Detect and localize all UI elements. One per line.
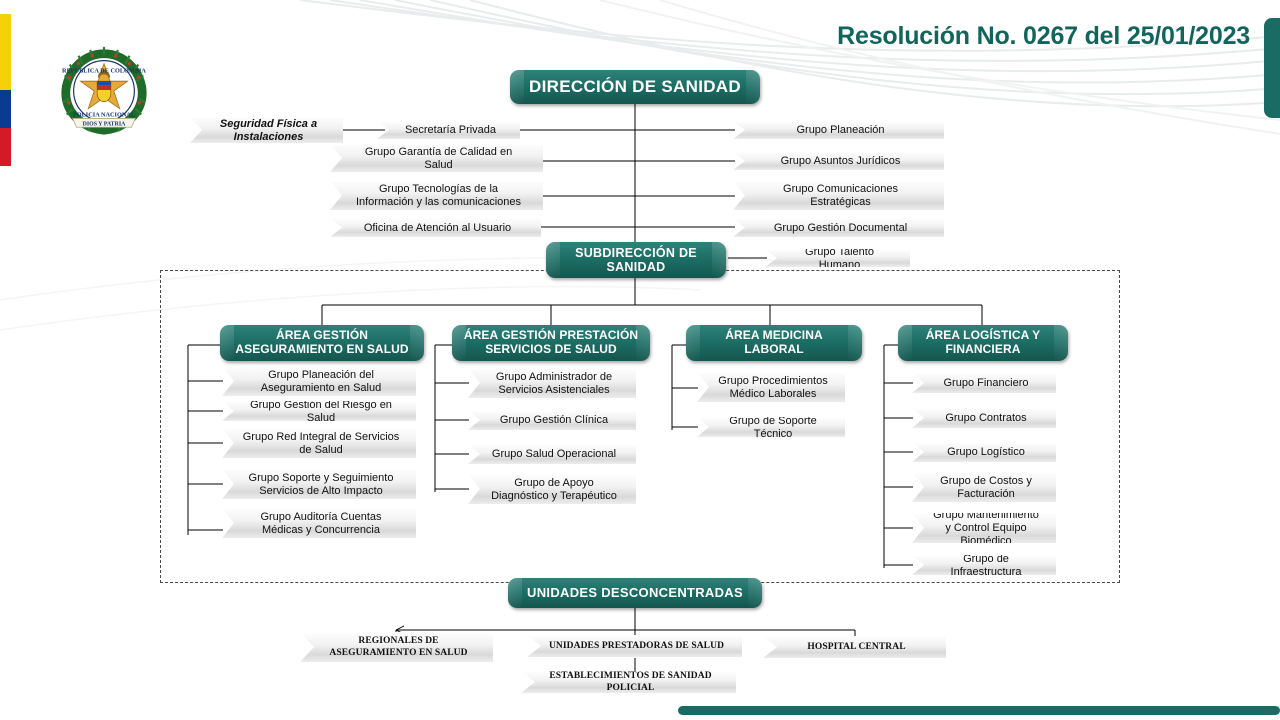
emblem-bottom-text: POLICIA NACIONAL: [73, 111, 135, 118]
node-label: Grupo de Apoyo Diagnóstico y Terapéutico: [488, 477, 620, 503]
node-label: Grupo Gestión del Riesgo en Salud: [242, 399, 400, 425]
node-grupo-logistico[interactable]: Grupo Logístico: [912, 442, 1056, 462]
node-label: ÁREA MEDICINA LABORAL: [696, 329, 852, 357]
node-grupo-auditoria-cuentas-medicas-concurrencia[interactable]: Grupo Auditoría Cuentas Médicas y Concur…: [222, 508, 416, 538]
node-label: Grupo de Soporte Técnico: [717, 415, 829, 441]
node-label: Grupo Gestión Clínica: [500, 414, 608, 427]
node-label: Grupo Salud Operacional: [492, 448, 616, 461]
node-grupo-asuntos-juridicos[interactable]: Grupo Asuntos Jurídicos: [733, 152, 944, 170]
node-label: UNIDADES PRESTADORAS DE SALUD: [549, 641, 724, 652]
node-secretaria-privada[interactable]: Secretaría Privada: [377, 121, 520, 139]
right-edge-accent-bar: [1264, 18, 1280, 118]
node-label: DIRECCIÓN DE SANIDAD: [529, 77, 741, 97]
node-grupo-contratos[interactable]: Grupo Contratos: [912, 408, 1056, 428]
node-label: Grupo Financiero: [944, 377, 1029, 390]
node-label: Grupo Administrador de Servicios Asisten…: [488, 371, 620, 397]
node-grupo-de-soporte-tecnico[interactable]: Grupo de Soporte Técnico: [697, 417, 845, 437]
node-unidades-desconcentradas[interactable]: UNIDADES DESCONCENTRADAS: [508, 578, 762, 608]
node-area-gestion-prestacion-servicios-de-salud[interactable]: ÁREA GESTIÓN PRESTACIÓN SERVICIOS DE SAL…: [452, 325, 650, 361]
node-grupo-planeacion[interactable]: Grupo Planeación: [733, 121, 944, 139]
node-grupo-salud-operacional[interactable]: Grupo Salud Operacional: [468, 444, 636, 464]
node-label: Grupo Procedimientos Médico Laborales: [717, 375, 829, 401]
node-grupo-comunicaciones-estrategicas[interactable]: Grupo Comunicaciones Estratégicas: [733, 181, 944, 210]
node-label: Grupo Tecnologías de la Información y la…: [350, 183, 527, 209]
node-grupo-administrador-servicios-asistenciales[interactable]: Grupo Administrador de Servicios Asisten…: [468, 368, 636, 398]
node-grupo-apoyo-diagnostico-terapeutico[interactable]: Grupo de Apoyo Diagnóstico y Terapéutico: [468, 474, 636, 504]
colombia-flag-stripe: [0, 14, 11, 166]
emblem-motto-text: DIOS Y PATRIA: [83, 121, 127, 127]
node-grupo-procedimientos-medico-laborales[interactable]: Grupo Procedimientos Médico Laborales: [697, 372, 845, 402]
node-grupo-planeacion-aseguramiento-en-salud[interactable]: Grupo Planeación del Aseguramiento en Sa…: [222, 366, 416, 396]
emblem-top-text: REPUBLICA DE COLOMBIA: [62, 67, 146, 74]
node-label: Grupo Asuntos Jurídicos: [781, 155, 901, 168]
node-area-gestion-aseguramiento-en-salud[interactable]: ÁREA GESTIÓN ASEGURAMIENTO EN SALUD: [220, 325, 424, 361]
node-label: Seguridad Física a Instalaciones: [210, 118, 327, 144]
node-area-medicina-laboral[interactable]: ÁREA MEDICINA LABORAL: [686, 325, 862, 361]
node-grupo-tecnologias-informacion-comunicaciones[interactable]: Grupo Tecnologías de la Información y la…: [330, 181, 543, 210]
bottom-accent-bar: [678, 706, 1280, 715]
node-grupo-garantia-de-calidad-en-salud[interactable]: Grupo Garantía de Calidad en Salud: [330, 144, 543, 172]
flag-yellow-band: [0, 14, 11, 90]
node-label: Secretaría Privada: [405, 124, 496, 137]
node-subdireccion-de-sanidad[interactable]: SUBDIRECCIÓN DE SANIDAD: [546, 242, 726, 278]
node-regionales-de-aseguramiento-en-salud[interactable]: REGIONALES DE ASEGURAMIENTO EN SALUD: [300, 632, 493, 662]
node-label: Oficina de Atención al Usuario: [364, 222, 511, 235]
node-grupo-red-integral-de-servicios-de-salud[interactable]: Grupo Red Integral de Servicios de Salud: [222, 428, 416, 458]
node-label: Grupo Red Integral de Servicios de Salud: [242, 431, 400, 457]
node-grupo-mantenimiento-control-equipo-biomedico[interactable]: Grupo Mantenimiento y Control Equipo Bio…: [912, 513, 1056, 543]
node-label: Grupo Planeación del Aseguramiento en Sa…: [242, 369, 400, 395]
node-label: Grupo de Costos y Facturación: [932, 475, 1040, 501]
node-seguridad-fisica-a-instalaciones[interactable]: Seguridad Física a Instalaciones: [190, 117, 343, 143]
node-label: Grupo Garantía de Calidad en Salud: [350, 146, 527, 172]
node-grupo-financiero[interactable]: Grupo Financiero: [912, 373, 1056, 393]
node-grupo-soporte-seguimiento-alto-impacto[interactable]: Grupo Soporte y Seguimiento Servicios de…: [222, 469, 416, 499]
node-unidades-prestadoras-de-salud[interactable]: UNIDADES PRESTADORAS DE SALUD: [527, 635, 742, 657]
flag-red-band: [0, 128, 11, 166]
node-grupo-de-infraestructura[interactable]: Grupo de Infraestructura: [912, 555, 1056, 575]
node-hospital-central[interactable]: HOSPITAL CENTRAL: [763, 636, 946, 658]
node-label: HOSPITAL CENTRAL: [807, 642, 905, 653]
node-oficina-de-atencion-al-usuario[interactable]: Oficina de Atención al Usuario: [330, 218, 541, 237]
node-label: UNIDADES DESCONCENTRADAS: [527, 586, 743, 601]
slide-canvas: REPUBLICA DE COLOMBIA POLICIA NACIONAL D…: [0, 0, 1280, 720]
node-label: Grupo Soporte y Seguimiento Servicios de…: [242, 472, 400, 498]
node-label: Grupo Logístico: [947, 446, 1025, 459]
node-label: ÁREA GESTIÓN ASEGURAMIENTO EN SALUD: [230, 329, 414, 357]
node-area-logistica-y-financiera[interactable]: ÁREA LOGÍSTICA Y FINANCIERA: [898, 325, 1068, 361]
node-establecimientos-de-sanidad-policial[interactable]: ESTABLECIMIENTOS DE SANIDAD POLICIAL: [521, 671, 736, 693]
flag-blue-band: [0, 90, 11, 128]
node-label: Grupo Comunicaciones Estratégicas: [753, 183, 928, 209]
node-label: Grupo Contratos: [945, 412, 1026, 425]
node-label: Grupo Auditoría Cuentas Médicas y Concur…: [242, 511, 400, 537]
node-label: ÁREA GESTIÓN PRESTACIÓN SERVICIOS DE SAL…: [462, 329, 640, 357]
node-grupo-gestion-documental[interactable]: Grupo Gestión Documental: [733, 218, 944, 237]
node-label: Grupo Gestión Documental: [774, 222, 907, 235]
node-label: REGIONALES DE ASEGURAMIENTO EN SALUD: [320, 636, 477, 658]
node-direccion-de-sanidad[interactable]: DIRECCIÓN DE SANIDAD: [510, 70, 760, 104]
node-label: ÁREA LOGÍSTICA Y FINANCIERA: [908, 329, 1058, 357]
node-grupo-talento-humano[interactable]: Grupo Talento Humano: [765, 249, 910, 267]
node-label: Grupo Talento Humano: [785, 246, 894, 272]
node-label: Grupo Mantenimiento y Control Equipo Bio…: [932, 509, 1040, 548]
node-label: ESTABLECIMIENTOS DE SANIDAD POLICIAL: [541, 671, 720, 693]
page-title: Resolución No. 0267 del 25/01/2023: [760, 22, 1250, 51]
node-label: SUBDIRECCIÓN DE SANIDAD: [556, 246, 716, 275]
node-grupo-de-costos-y-facturacion[interactable]: Grupo de Costos y Facturación: [912, 472, 1056, 502]
node-grupo-gestion-clinica[interactable]: Grupo Gestión Clínica: [468, 410, 636, 430]
node-grupo-gestion-del-riesgo-en-salud[interactable]: Grupo Gestión del Riesgo en Salud: [222, 401, 416, 421]
node-label: Grupo Planeación: [796, 124, 884, 137]
policia-nacional-emblem-icon: REPUBLICA DE COLOMBIA POLICIA NACIONAL D…: [55, 42, 153, 140]
node-label: Grupo de Infraestructura: [932, 553, 1040, 579]
